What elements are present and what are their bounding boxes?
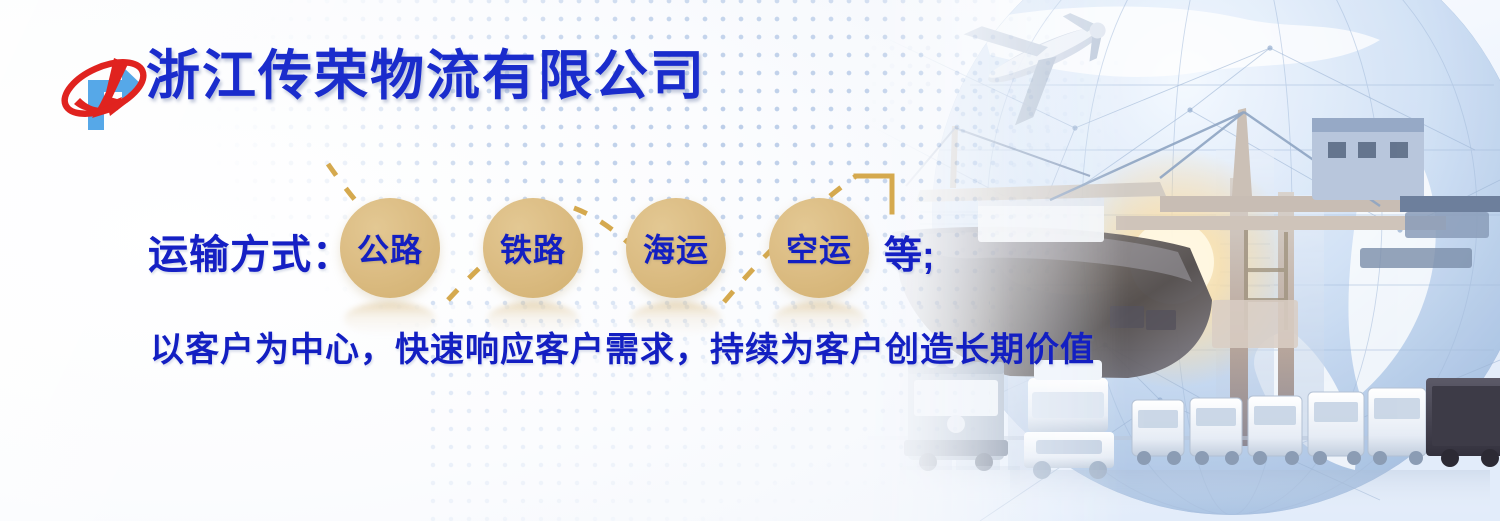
page-title: 浙江传荣物流有限公司 bbox=[146, 44, 706, 109]
company-logo bbox=[48, 34, 160, 146]
transport-mode-label: 空运 bbox=[786, 225, 852, 271]
logistics-collage bbox=[860, 0, 1500, 521]
transport-mode-label: 海运 bbox=[643, 225, 709, 271]
transport-mode-air[interactable]: 空运 bbox=[769, 198, 869, 298]
transport-mode-rail[interactable]: 铁路 bbox=[483, 198, 583, 298]
transport-mode-label: 铁路 bbox=[500, 225, 566, 271]
transport-mode-suffix: 等; bbox=[884, 224, 935, 279]
tagline: 以客户为中心，快速响应客户需求，持续为客户创造长期价值 bbox=[150, 322, 1095, 371]
logistics-banner: 浙江传荣物流有限公司 公路 铁路 海运 bbox=[0, 0, 1500, 521]
transport-mode-suffix-row: 等; bbox=[884, 210, 935, 292]
transport-mode-row: 运输方式： bbox=[148, 210, 353, 292]
transport-mode-heading: 运输方式： bbox=[148, 222, 353, 280]
transport-mode-road[interactable]: 公路 bbox=[340, 198, 440, 298]
transport-mode-sea[interactable]: 海运 bbox=[626, 198, 726, 298]
transport-mode-label: 公路 bbox=[357, 225, 423, 271]
